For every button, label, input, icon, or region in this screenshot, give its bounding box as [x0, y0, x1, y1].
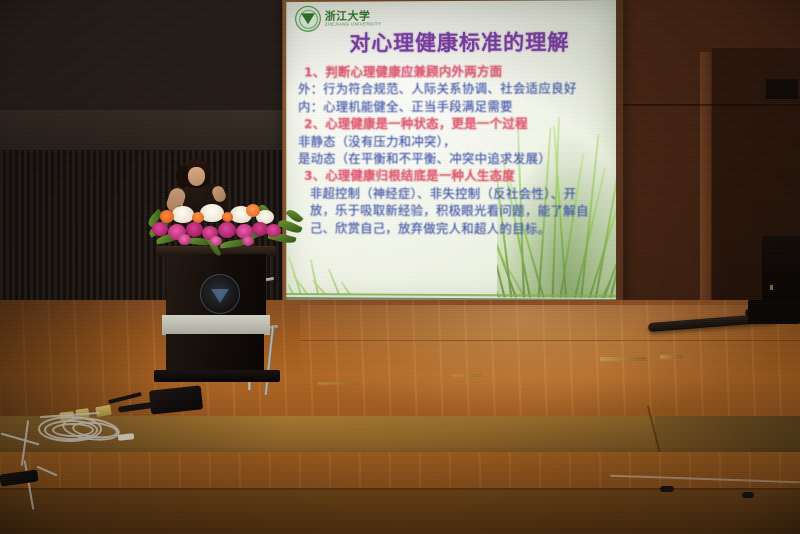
flower-arrangement	[146, 202, 304, 250]
slide-content: 对心理健康标准的理解 1、判断心理健康应兼顾内外两方面 外：行为符合规范、人际关…	[286, 0, 616, 302]
stage-floor-inset	[660, 355, 682, 359]
projection-screen-frame: 浙江大学 ZHEJIANG UNIVERSITY 对心理健康标准的理解 1、判断…	[282, 0, 623, 309]
slide-line: 己、欣赏自己，放弃做完人和超人的目标。	[298, 219, 606, 237]
loudspeaker-base	[748, 300, 800, 324]
slide-line: 外：行为符合规范、人际关系协调、社会适应良好	[298, 80, 606, 98]
slide-line: 内：心理机能健全、正当手段满足需要	[298, 97, 606, 115]
cable-connector	[742, 492, 754, 498]
podium-accent-band	[162, 315, 270, 335]
slide-line: 3、心理健康归根结底是一种人生态度	[298, 167, 606, 185]
left-wall-upper	[0, 110, 305, 152]
university-emblem-icon	[200, 274, 240, 314]
podium	[162, 246, 270, 382]
slide-line: 非静态（没有压力和冲突），	[298, 132, 606, 150]
stage-floor-inset	[600, 357, 646, 361]
podium-front-lower	[166, 334, 264, 374]
slide-line: 非超控制（神经症）、非失控制（反社会性）、开	[298, 185, 606, 203]
stage-floor-seam	[300, 340, 800, 341]
projection-screen: 浙江大学 ZHEJIANG UNIVERSITY 对心理健康标准的理解 1、判断…	[286, 0, 616, 302]
slide-line: 1、判断心理健康应兼顾内外两方面	[298, 62, 606, 80]
stage-floor-inset	[452, 374, 482, 377]
slide-title: 对心理健康标准的理解	[314, 26, 606, 57]
wall-seam-2	[612, 104, 800, 106]
slide-line: 2、心理健康是一种状态，更是一个过程	[298, 115, 606, 133]
slide-line: 放，乐于吸取新经验，积极眼光看问题，能了解自	[298, 202, 606, 220]
stage-lower-front-face	[0, 488, 800, 534]
presenter-hair	[176, 166, 188, 188]
stage-floor-inset	[318, 382, 358, 385]
presenter-face	[188, 167, 205, 186]
speaker-indicator-icon	[770, 285, 773, 290]
podium-front-upper	[166, 254, 266, 316]
slide-line: 是动态（在平衡和不平衡、冲突中追求发展）	[298, 150, 606, 168]
podium-base	[154, 370, 280, 382]
cable-connector	[660, 486, 674, 492]
lecture-hall-photo: 浙江大学 ZHEJIANG UNIVERSITY 对心理健康标准的理解 1、判断…	[0, 0, 800, 534]
wall-pilaster	[700, 52, 711, 320]
wall-vent-icon	[765, 78, 799, 100]
